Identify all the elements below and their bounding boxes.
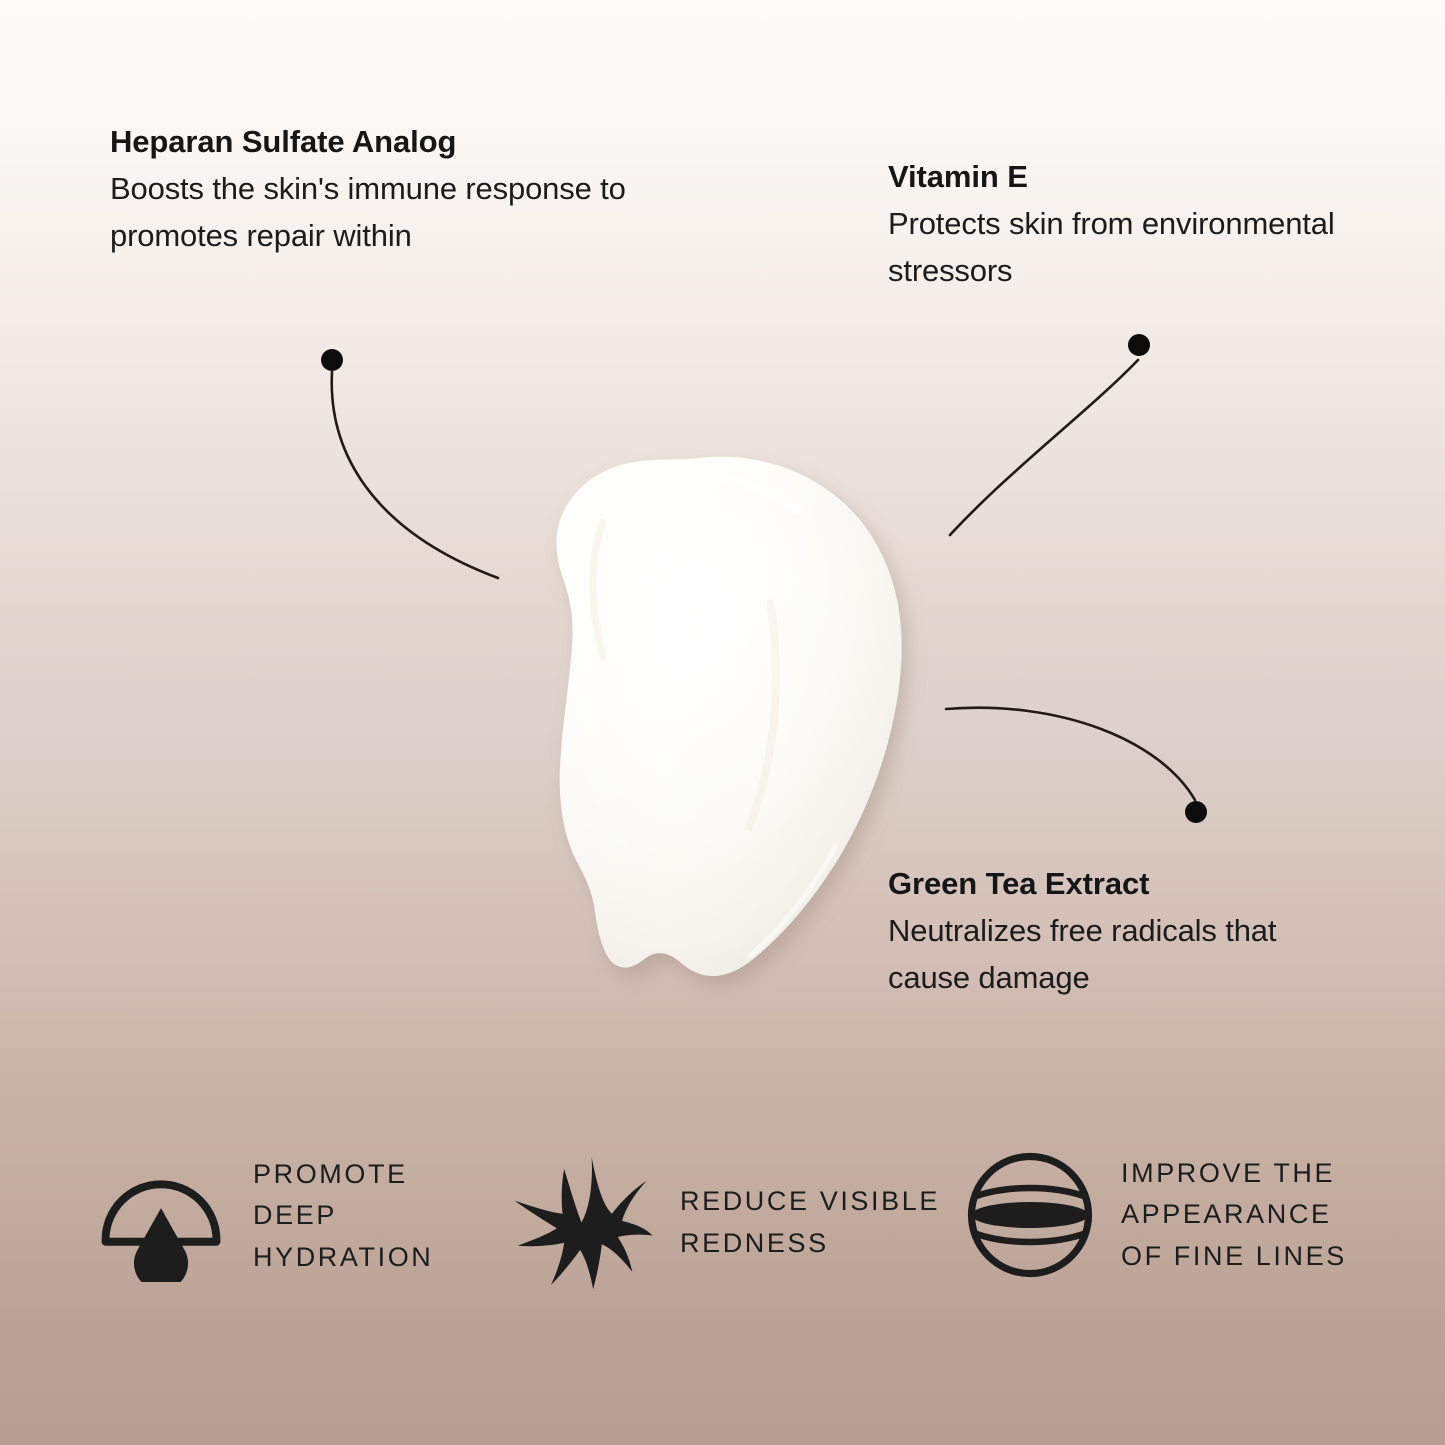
callout-description: Boosts the skin's immune response to pro… <box>110 166 670 259</box>
callout-vitamin-e: Vitamin E Protects skin from environment… <box>888 161 1358 294</box>
benefit-label: REDUCE VISIBLE REDNESS <box>680 1181 940 1263</box>
benefit-promote-deep-hydration: PROMOTE DEEP HYDRATION <box>95 1150 515 1282</box>
callout-title: Green Tea Extract <box>888 868 1358 899</box>
connector-dot-vitamin-e <box>1128 334 1150 356</box>
callout-heparan-sulfate-analog: Heparan Sulfate Analog Boosts the skin's… <box>110 126 670 259</box>
callout-description: Protects skin from environmental stresso… <box>888 201 1358 294</box>
callout-green-tea-extract: Green Tea Extract Neutralizes free radic… <box>888 868 1358 1001</box>
cream-swatch <box>556 457 901 976</box>
benefit-reduce-visible-redness: REDUCE VISIBLE REDNESS <box>515 1150 965 1295</box>
connector-dot-heparan <box>321 349 343 371</box>
connector-line-green-tea <box>946 708 1195 800</box>
benefit-improve-fine-lines: IMPROVE THE APPEARANCE OF FINE LINES <box>965 1150 1380 1280</box>
water-drop-dome-icon <box>95 1150 227 1282</box>
benefits-row: PROMOTE DEEP HYDRATION REDUCE VISIBLE RE… <box>95 1150 1380 1315</box>
benefit-label: IMPROVE THE APPEARANCE OF FINE LINES <box>1121 1153 1347 1276</box>
connector-line-vitamin-e <box>950 360 1138 535</box>
connector-dot-green-tea <box>1185 801 1207 823</box>
callout-title: Vitamin E <box>888 161 1358 192</box>
connector-line-heparan <box>332 372 498 578</box>
callout-title: Heparan Sulfate Analog <box>110 126 670 157</box>
starburst-icon <box>509 1150 654 1295</box>
product-ingredient-infographic: Heparan Sulfate Analog Boosts the skin's… <box>0 0 1445 1445</box>
benefit-label: PROMOTE DEEP HYDRATION <box>253 1154 433 1277</box>
sphere-lines-icon <box>965 1150 1095 1280</box>
callout-description: Neutralizes free radicals that cause dam… <box>888 908 1358 1001</box>
